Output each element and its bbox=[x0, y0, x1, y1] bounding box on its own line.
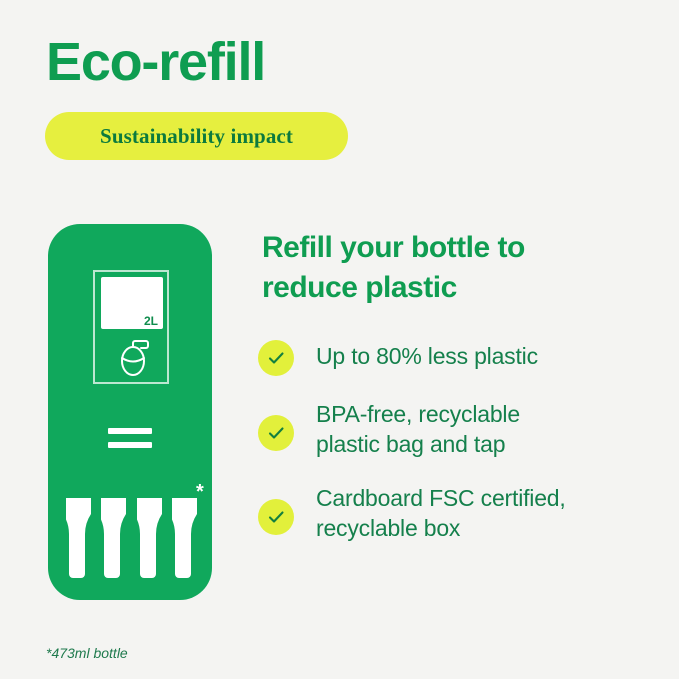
list-item-line1: Cardboard FSC certified, bbox=[316, 485, 566, 511]
list-item-line1: BPA-free, recyclable bbox=[316, 401, 520, 427]
asterisk-marker: * bbox=[196, 482, 204, 502]
list-item-line2: plastic bag and tap bbox=[316, 431, 505, 457]
equals-bar-bottom bbox=[108, 442, 152, 448]
benefit-list: Up to 80% less plastic BPA-free, recycla… bbox=[258, 340, 658, 565]
section-heading-line2: reduce plastic bbox=[262, 268, 622, 308]
bottle-silhouette bbox=[137, 495, 165, 579]
status-badge: Sustainability impact bbox=[45, 112, 348, 160]
list-item-text: BPA-free, recyclable plastic bag and tap bbox=[316, 398, 520, 460]
bottle-silhouette bbox=[172, 495, 200, 579]
check-icon bbox=[258, 415, 294, 451]
bottle-row bbox=[66, 495, 200, 579]
tap-icon bbox=[112, 334, 154, 378]
refill-box-outline: 2L bbox=[93, 270, 169, 384]
bottle-silhouette bbox=[101, 495, 129, 579]
list-item: Cardboard FSC certified, recyclable box bbox=[258, 482, 658, 544]
status-badge-label: Sustainability impact bbox=[100, 124, 293, 149]
page-title: Eco-refill bbox=[46, 34, 265, 91]
list-item: Up to 80% less plastic bbox=[258, 340, 658, 376]
product-illustration-panel: 2L bbox=[48, 224, 212, 600]
section-heading: Refill your bottle to reduce plastic bbox=[262, 228, 622, 308]
list-item: BPA-free, recyclable plastic bag and tap bbox=[258, 398, 658, 460]
bottle-silhouette bbox=[66, 495, 94, 579]
list-item-text: Cardboard FSC certified, recyclable box bbox=[316, 482, 566, 544]
check-icon bbox=[258, 499, 294, 535]
equals-icon bbox=[108, 428, 152, 450]
footnote: *473ml bottle bbox=[46, 645, 128, 661]
section-heading-line1: Refill your bottle to bbox=[262, 228, 622, 268]
list-item-line1: Up to 80% less plastic bbox=[316, 343, 538, 369]
eco-refill-infographic: Eco-refill Sustainability impact 2L bbox=[0, 0, 679, 679]
pouch-volume-label: 2L bbox=[144, 315, 158, 327]
list-item-text: Up to 80% less plastic bbox=[316, 340, 538, 371]
check-icon bbox=[258, 340, 294, 376]
list-item-line2: recyclable box bbox=[316, 515, 460, 541]
refill-pouch-graphic: 2L bbox=[101, 277, 163, 329]
equals-bar-top bbox=[108, 428, 152, 434]
